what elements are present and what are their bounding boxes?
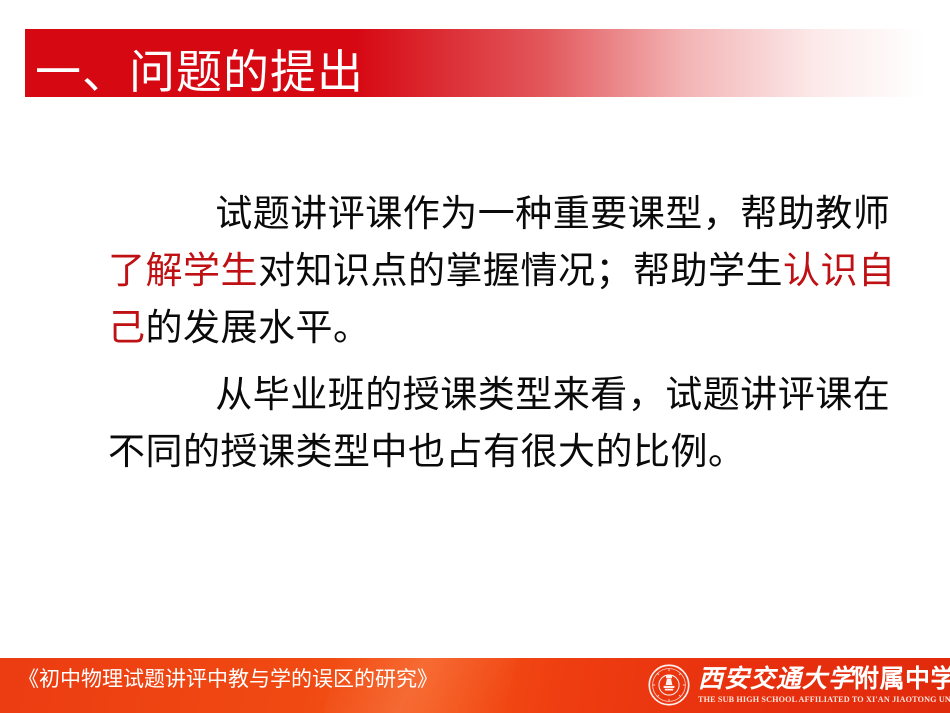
school-name-university: 西安交通大学 [698, 666, 854, 693]
school-name-branch: 附属中学分校 [854, 666, 950, 693]
school-name-en: THE SUB HIGH SCHOOL AFFILIATED TO XI'AN … [698, 696, 950, 704]
university-seal-icon [648, 664, 690, 706]
footer-project-title: 《初中物理试题讲评中教与学的误区的研究》 [18, 669, 438, 690]
paragraph-1-line-2-before: 帮助教师 [740, 194, 890, 235]
slide-body: 试题讲评课作为一种重要课型，帮助教师了解学生对知识点的掌握情况；帮助学生认识自己… [108, 186, 898, 481]
school-logo: 西安交通大学附属中学分校 THE SUB HIGH SCHOOL AFFILIA… [648, 660, 944, 710]
page-title: 一、问题的提出 [35, 50, 364, 96]
paragraph-2-line-3: 比例。 [633, 432, 746, 473]
paragraph-1-highlight-understand-students: 了解学生 [108, 251, 258, 292]
slide-canvas: 一、问题的提出 试题讲评课作为一种重要课型，帮助教师了解学生对知识点的掌握情况；… [0, 0, 950, 713]
school-logo-text: 西安交通大学附属中学分校 THE SUB HIGH SCHOOL AFFILIA… [698, 667, 950, 704]
paragraph-1-line-2-after: 对知识点的掌握情况； [258, 251, 633, 292]
school-name-cn: 西安交通大学附属中学分校 [698, 667, 950, 692]
paragraph-2: 从毕业班的授课类型来看，试题讲评课在不同的授课类型中也占有很大的比例。 [108, 367, 898, 481]
paragraph-2-line-1: 从毕业班的授课类型来看，试题 [215, 375, 740, 416]
paragraph-1-line-3-before: 帮助学生 [633, 251, 783, 292]
paragraph-1-line-3-after: 的发展水平。 [146, 308, 371, 349]
paragraph-1-line-1: 试题讲评课作为一种重要课型， [215, 194, 740, 235]
paragraph-1: 试题讲评课作为一种重要课型，帮助教师了解学生对知识点的掌握情况；帮助学生认识自己… [108, 186, 898, 357]
